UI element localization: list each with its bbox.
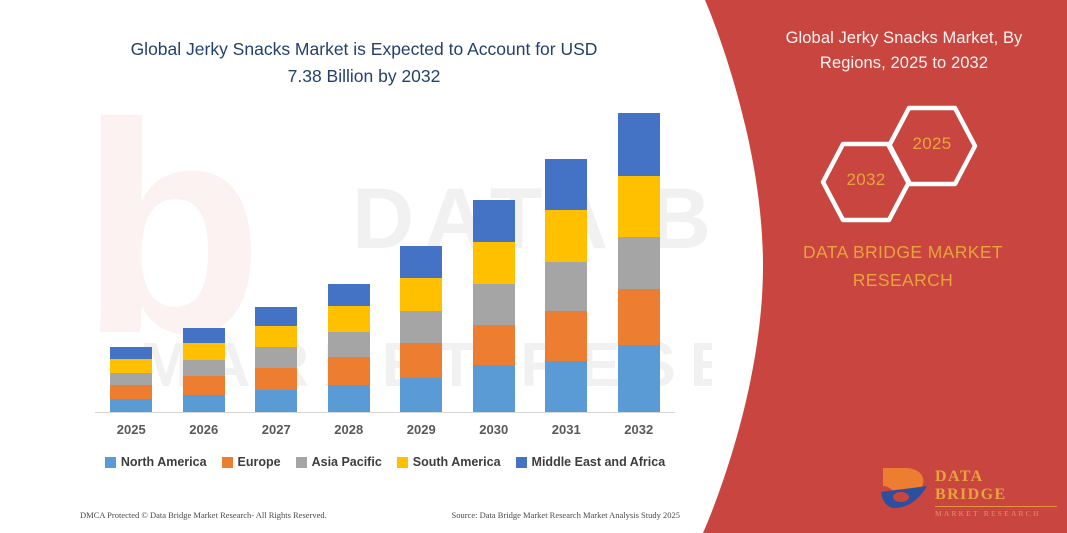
bar-segment xyxy=(545,311,587,362)
bar-segment xyxy=(473,284,515,325)
bar-segment xyxy=(400,378,442,413)
bar-segment xyxy=(328,306,370,332)
x-axis-label: 2027 xyxy=(240,422,313,437)
bar-segment xyxy=(110,347,152,359)
bar-segment xyxy=(255,390,297,412)
x-axis-label: 2028 xyxy=(313,422,386,437)
bar-segment xyxy=(545,159,587,211)
legend-item[interactable]: Middle East and Africa xyxy=(516,455,666,469)
bar-segment xyxy=(473,365,515,412)
legend-swatch-icon xyxy=(105,457,116,468)
bar-segment xyxy=(400,311,442,343)
bar-segment xyxy=(400,343,442,378)
bar-segment xyxy=(255,347,297,367)
bar-slot xyxy=(168,110,241,412)
x-axis-label: 2025 xyxy=(95,422,168,437)
right-red-panel: Global Jerky Snacks Market, By Regions, … xyxy=(667,0,1067,533)
footer-source: Source: Data Bridge Market Research Mark… xyxy=(451,510,680,520)
bar-segment xyxy=(183,360,225,376)
legend-item[interactable]: Europe xyxy=(222,455,281,469)
bar-segment xyxy=(255,307,297,325)
legend-item[interactable]: North America xyxy=(105,455,207,469)
bar-segment xyxy=(328,284,370,307)
legend-swatch-icon xyxy=(296,457,307,468)
bar-segment xyxy=(400,246,442,278)
legend-label: Asia Pacific xyxy=(312,455,382,469)
logo-main-text: DATA BRIDGE xyxy=(935,468,1059,504)
bar-slot xyxy=(95,110,168,412)
bar-segment xyxy=(545,210,587,262)
x-axis-label: 2029 xyxy=(385,422,458,437)
stacked-bar-2027[interactable] xyxy=(255,307,297,412)
bar-segment xyxy=(328,357,370,385)
stacked-bar-2032[interactable] xyxy=(618,113,660,412)
bar-segment xyxy=(110,399,152,412)
legend-item[interactable]: Asia Pacific xyxy=(296,455,382,469)
bar-slot xyxy=(240,110,313,412)
bar-group xyxy=(95,110,675,412)
stacked-bar-2031[interactable] xyxy=(545,159,587,412)
bar-segment xyxy=(473,242,515,284)
legend-label: North America xyxy=(121,455,207,469)
bar-segment xyxy=(618,113,660,176)
stacked-bar-2026[interactable] xyxy=(183,328,225,412)
footer: DMCA Protected © Data Bridge Market Rese… xyxy=(80,506,680,524)
hexagon-2032: 2032 xyxy=(819,140,913,224)
bar-segment xyxy=(183,343,225,360)
chart-legend: North AmericaEuropeAsia PacificSouth Ame… xyxy=(95,455,675,469)
bar-segment xyxy=(473,200,515,242)
bar-slot xyxy=(530,110,603,412)
bar-segment xyxy=(255,368,297,391)
stacked-bar-2028[interactable] xyxy=(328,284,370,412)
legend-label: Middle East and Africa xyxy=(532,455,666,469)
x-axis-labels: 20252026202720282029203020312032 xyxy=(95,422,675,437)
bar-slot xyxy=(313,110,386,412)
stacked-bar-2029[interactable] xyxy=(400,246,442,412)
bar-segment xyxy=(255,326,297,348)
infographic-root: b DATA BRIDGE MARKET RESEARCH Global Jer… xyxy=(0,0,1067,533)
data-bridge-logo-text: DATA BRIDGE MARKET RESEARCH xyxy=(935,468,1059,519)
bar-segment xyxy=(618,345,660,412)
logo-sub-text: MARKET RESEARCH xyxy=(935,509,1059,519)
bar-segment xyxy=(618,237,660,289)
bar-segment xyxy=(473,325,515,365)
x-axis-label: 2026 xyxy=(168,422,241,437)
bar-segment xyxy=(618,176,660,237)
data-bridge-logo: DATA BRIDGE MARKET RESEARCH xyxy=(879,462,1059,516)
stacked-bar-chart xyxy=(95,110,675,413)
stacked-bar-2025[interactable] xyxy=(110,347,152,412)
legend-item[interactable]: South America xyxy=(397,455,501,469)
bar-segment xyxy=(545,361,587,412)
bar-segment xyxy=(328,332,370,357)
hexagon-2032-label: 2032 xyxy=(819,170,913,190)
bar-segment xyxy=(183,328,225,343)
data-bridge-b-icon xyxy=(879,464,931,512)
bar-slot xyxy=(603,110,676,412)
chart-title: Global Jerky Snacks Market is Expected t… xyxy=(118,36,610,90)
bar-segment xyxy=(183,376,225,394)
legend-swatch-icon xyxy=(397,457,408,468)
bar-segment xyxy=(400,278,442,310)
logo-divider xyxy=(935,506,1057,507)
legend-swatch-icon xyxy=(222,457,233,468)
bar-segment xyxy=(110,385,152,399)
legend-swatch-icon xyxy=(516,457,527,468)
bar-segment xyxy=(618,289,660,345)
footer-copyright: DMCA Protected © Data Bridge Market Rese… xyxy=(80,510,327,520)
x-axis-label: 2032 xyxy=(603,422,676,437)
x-axis-line xyxy=(95,412,675,413)
right-panel-brand: DATA BRIDGE MARKET RESEARCH xyxy=(763,238,1043,294)
x-axis-label: 2030 xyxy=(458,422,531,437)
legend-label: Europe xyxy=(238,455,281,469)
legend-label: South America xyxy=(413,455,501,469)
chart-panel: b DATA BRIDGE MARKET RESEARCH Global Jer… xyxy=(0,0,712,533)
x-axis-label: 2031 xyxy=(530,422,603,437)
stacked-bar-2030[interactable] xyxy=(473,200,515,412)
bar-segment xyxy=(110,359,152,373)
bar-segment xyxy=(328,385,370,412)
bar-segment xyxy=(183,395,225,412)
bar-segment xyxy=(545,262,587,311)
right-panel-content: Global Jerky Snacks Market, By Regions, … xyxy=(667,0,1067,533)
bar-segment xyxy=(110,373,152,385)
bar-slot xyxy=(385,110,458,412)
bar-slot xyxy=(458,110,531,412)
